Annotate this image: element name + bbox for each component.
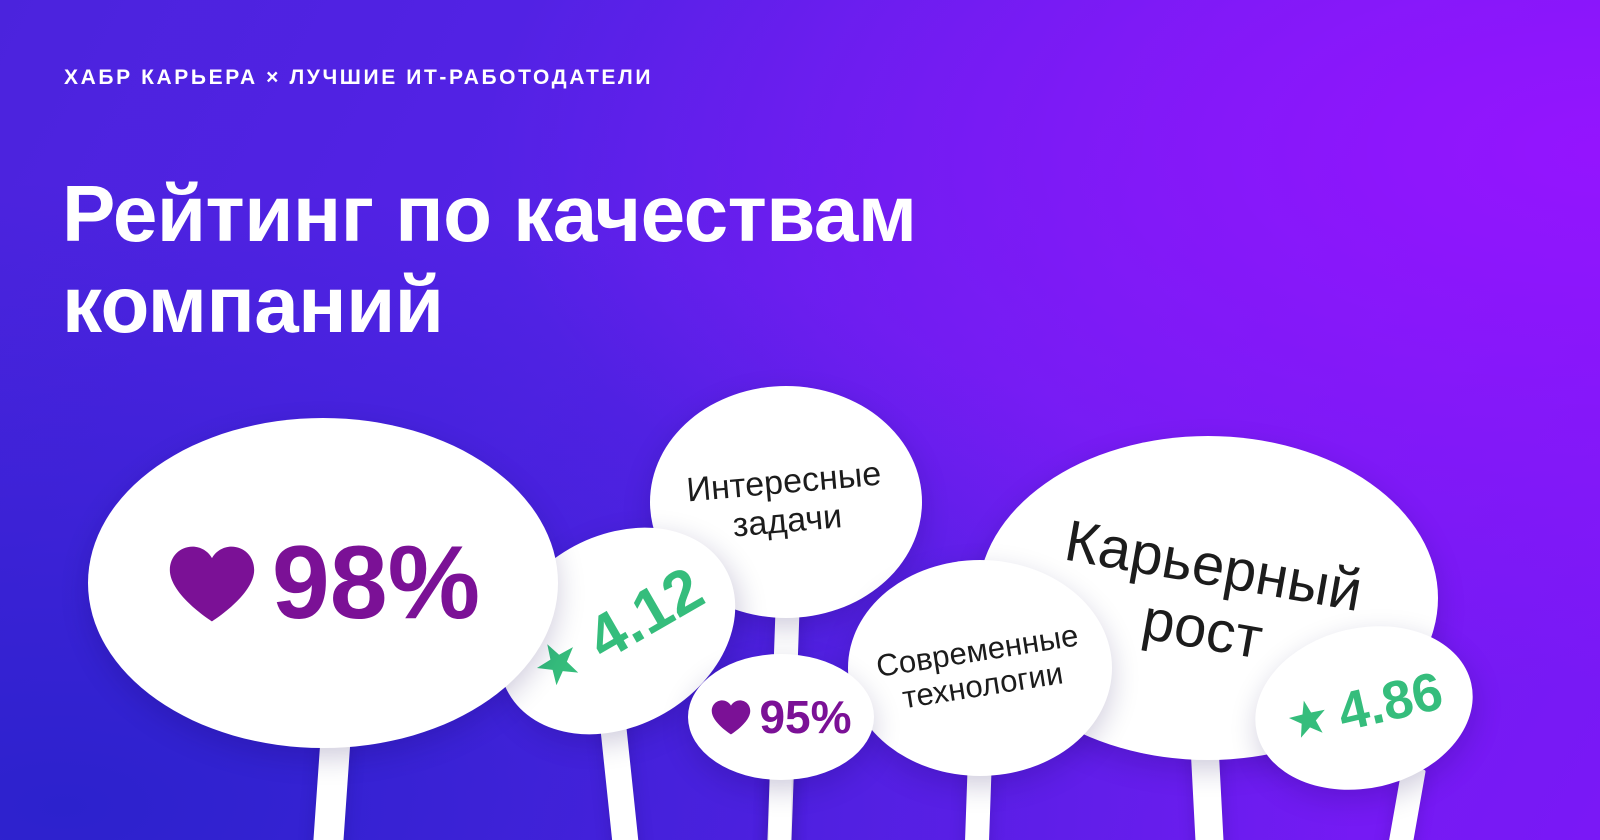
bubble-label: Современные технологии (874, 617, 1087, 719)
bubble-modern-technologies[interactable]: Современные технологии (848, 560, 1112, 776)
page-title-line-2: компаний (62, 259, 1122, 350)
hero-banner: ХАБР КАРЬЕРА × ЛУЧШИЕ ИТ-РАБОТОДАТЕЛИ Ре… (0, 0, 1600, 840)
bubble-satisfaction-98[interactable]: 98% (88, 418, 558, 748)
star-icon (1281, 693, 1336, 748)
heart-icon (166, 542, 258, 624)
metric-value: 4.86 (1333, 664, 1448, 740)
page-title: Рейтинг по качествам компаний (62, 168, 1122, 350)
metric-value: 4.12 (578, 557, 714, 671)
metric-value: 98% (272, 531, 480, 635)
heart-icon (710, 698, 752, 736)
bubble-label: Интересные задачи (685, 455, 886, 549)
bubble-satisfaction-95[interactable]: 95% (688, 654, 874, 780)
page-title-line-1: Рейтинг по качествам (62, 168, 1122, 259)
metric-value: 95% (759, 694, 851, 740)
eyebrow-text: ХАБР КАРЬЕРА × ЛУЧШИЕ ИТ-РАБОТОДАТЕЛИ (64, 66, 653, 90)
